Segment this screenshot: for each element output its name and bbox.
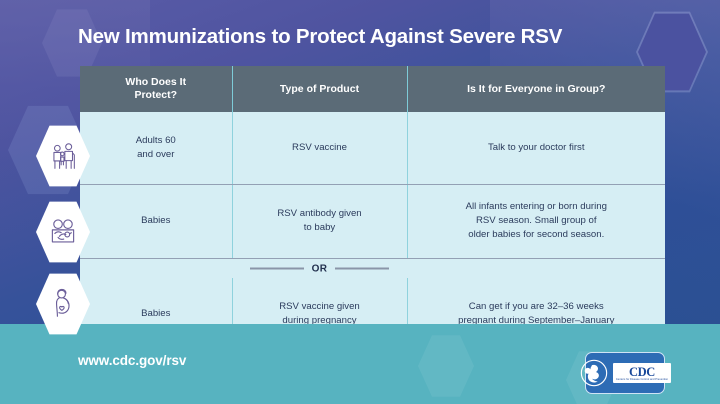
or-separator-cell-left: [80, 258, 232, 278]
or-separator-band: OR: [232, 263, 407, 274]
hhs-seal-icon: [579, 358, 609, 388]
table-row: Babies RSV antibody given to baby All in…: [80, 184, 665, 258]
column-header-type-of-product: Type of Product: [232, 66, 407, 112]
cell-product-row3-line1: RSV vaccine given: [241, 300, 399, 314]
cell-everyone-row2: All infants entering or born during RSV …: [407, 184, 665, 258]
or-line-right: [335, 268, 389, 269]
or-label: OR: [312, 263, 328, 274]
table-row: Adults 60 and over RSV vaccine Talk to y…: [80, 112, 665, 184]
footer-website-url[interactable]: www.cdc.gov/rsv: [78, 353, 186, 368]
hexagon-decoration-footer-left: [418, 334, 474, 398]
table-header-row: Who Does It Protect? Type of Product Is …: [80, 66, 665, 112]
cell-product-row1-line1: RSV vaccine: [241, 141, 399, 155]
pregnant-person-icon: [36, 273, 90, 335]
or-separator-row: OR: [80, 258, 665, 278]
cell-everyone-row2-line3: older babies for second season.: [416, 228, 658, 242]
parents-with-baby-icon: [36, 201, 90, 263]
cell-product-row2-line1: RSV antibody given: [241, 207, 399, 221]
column-header-is-it-for-everyone: Is It for Everyone in Group?: [407, 66, 665, 112]
or-separator-cell-middle: OR: [232, 258, 407, 278]
cell-who-protect-row2: Babies: [80, 184, 232, 258]
cdc-wordmark: CDC Centers for Disease Control and Prev…: [613, 363, 671, 383]
cell-product-row2: RSV antibody given to baby: [232, 184, 407, 258]
cell-everyone-row1-line1: Talk to your doctor first: [416, 141, 658, 155]
cell-who-protect-row1-line2: and over: [88, 148, 224, 162]
immunization-table: Who Does It Protect? Type of Product Is …: [80, 66, 665, 350]
cell-everyone-row3-line1: Can get if you are 32–36 weeks: [416, 300, 658, 314]
older-couple-icon: [36, 125, 90, 187]
cell-product-row1: RSV vaccine: [232, 112, 407, 184]
cell-everyone-row2-line1: All infants entering or born during: [416, 200, 658, 214]
or-line-left: [250, 268, 304, 269]
cell-who-protect-row1: Adults 60 and over: [80, 112, 232, 184]
cell-everyone-row1: Talk to your doctor first: [407, 112, 665, 184]
column-header-who-protect: Who Does It Protect?: [80, 66, 232, 112]
cell-product-row2-line2: to baby: [241, 221, 399, 235]
cell-everyone-row2-line2: RSV season. Small group of: [416, 214, 658, 228]
cell-who-protect-row1-line1: Adults 60: [88, 134, 224, 148]
page-title: New Immunizations to Protect Against Sev…: [78, 26, 678, 49]
cdc-logo[interactable]: CDC Centers for Disease Control and Prev…: [585, 352, 665, 394]
column-header-who-protect-line2: Protect?: [86, 89, 226, 102]
infographic-root: New Immunizations to Protect Against Sev…: [0, 0, 720, 404]
or-separator-cell-right: [407, 258, 665, 278]
cdc-tagline: Centers for Disease Control and Preventi…: [616, 379, 668, 382]
column-header-who-protect-line1: Who Does It: [86, 76, 226, 89]
